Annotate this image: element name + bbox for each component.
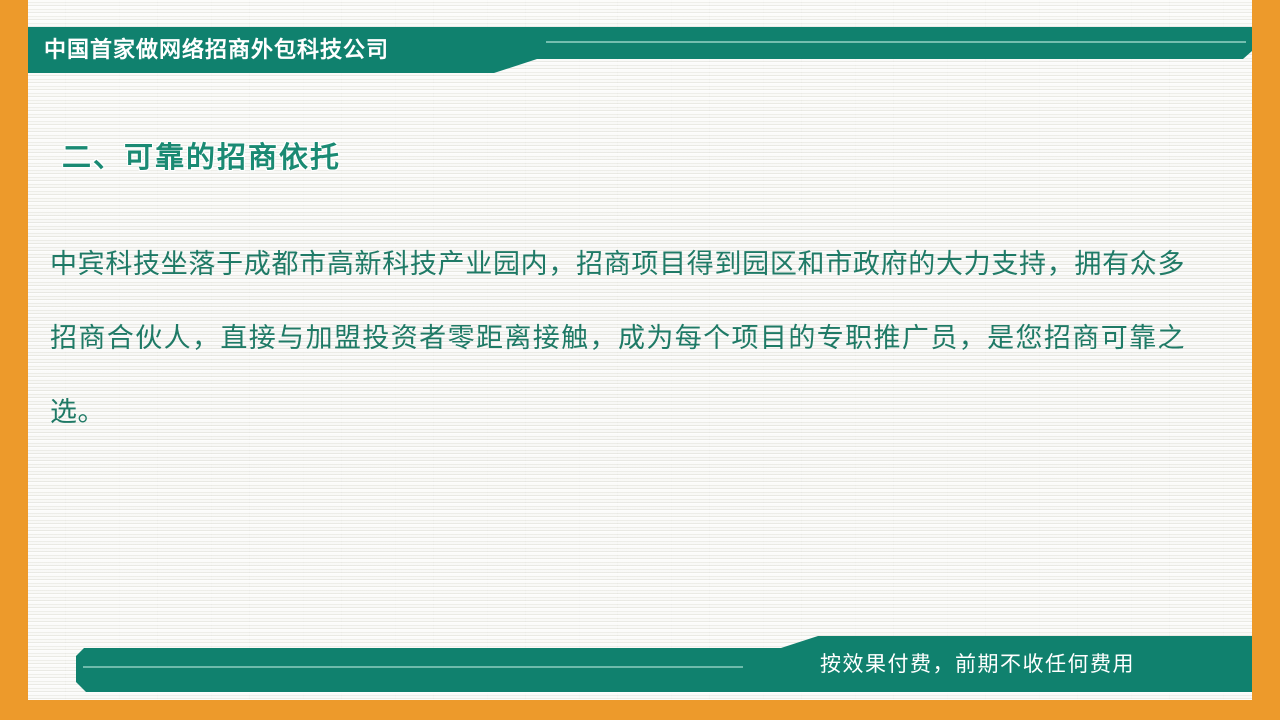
header-title: 中国首家做网络招商外包科技公司 — [44, 33, 514, 67]
section-heading: 二、可靠的招商依托 — [62, 134, 341, 176]
body-paragraph: 中宾科技坐落于成都市高新科技产业园内，招商项目得到园区和市政府的大力支持，拥有众… — [50, 228, 1185, 450]
presentation-slide: 中国首家做网络招商外包科技公司 二、可靠的招商依托 中宾科技坐落于成都市高新科技… — [0, 0, 1280, 720]
footer-tagline: 按效果付费，前期不收任何费用 — [820, 650, 1220, 680]
